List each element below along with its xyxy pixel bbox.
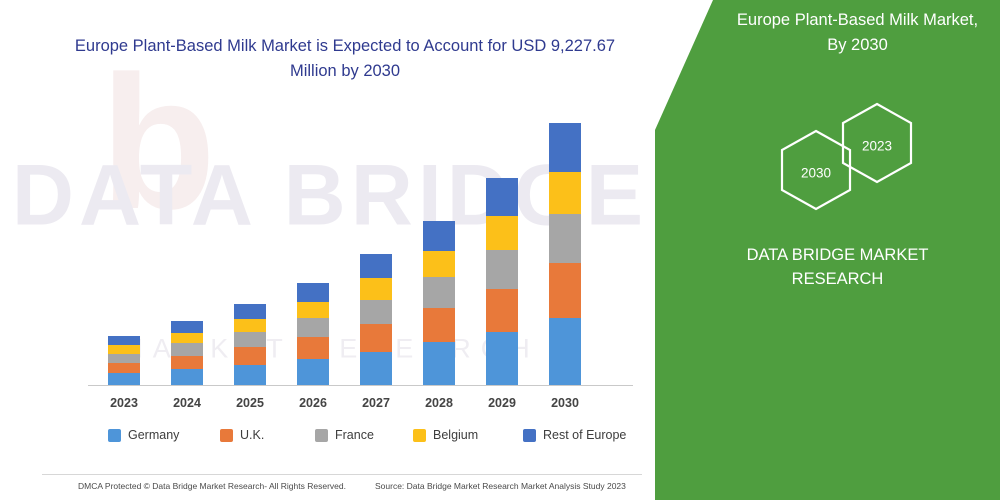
bar-group-2029[interactable] xyxy=(486,178,518,385)
x-axis-label-2025: 2025 xyxy=(220,396,280,410)
hexagon-2023: 2023 xyxy=(839,101,915,190)
legend-label: France xyxy=(335,428,374,442)
bar-segment-france-2028[interactable] xyxy=(423,277,455,307)
footer: DMCA Protected © Data Bridge Market Rese… xyxy=(0,474,680,500)
bar-segment-belgium-2028[interactable] xyxy=(423,251,455,277)
bar-segment-u-k--2023[interactable] xyxy=(108,363,140,373)
bar-segment-germany-2028[interactable] xyxy=(423,342,455,385)
bar-segment-france-2030[interactable] xyxy=(549,214,581,263)
footer-divider xyxy=(42,474,642,475)
bar-segment-u-k--2030[interactable] xyxy=(549,263,581,318)
x-axis-label-2029: 2029 xyxy=(472,396,532,410)
x-axis-label-2024: 2024 xyxy=(157,396,217,410)
chart-panel: b DATA BRIDGE MARKET RESEARCH Europe Pla… xyxy=(0,0,680,500)
bar-segment-france-2024[interactable] xyxy=(171,343,203,355)
legend-label: Rest of Europe xyxy=(543,428,626,442)
footer-copyright: DMCA Protected © Data Bridge Market Rese… xyxy=(78,481,346,491)
legend-item-u-k-[interactable]: U.K. xyxy=(220,428,315,442)
x-axis-label-2027: 2027 xyxy=(346,396,406,410)
bar-group-2028[interactable] xyxy=(423,221,455,385)
bar-segment-u-k--2024[interactable] xyxy=(171,356,203,369)
legend-label: U.K. xyxy=(240,428,264,442)
panel-title: Europe Plant-Based Milk Market, By 2030 xyxy=(730,8,985,58)
legend-item-germany[interactable]: Germany xyxy=(108,428,220,442)
bar-segment-u-k--2027[interactable] xyxy=(360,324,392,351)
legend-label: Germany xyxy=(128,428,179,442)
bar-segment-germany-2029[interactable] xyxy=(486,332,518,385)
bar-segment-belgium-2025[interactable] xyxy=(234,319,266,332)
bar-segment-belgium-2023[interactable] xyxy=(108,345,140,353)
legend-swatch-icon xyxy=(220,429,233,442)
bar-segment-germany-2030[interactable] xyxy=(549,318,581,385)
bar-segment-rest-of-europe-2026[interactable] xyxy=(297,283,329,302)
footer-source: Source: Data Bridge Market Research Mark… xyxy=(375,481,626,491)
bar-segment-france-2025[interactable] xyxy=(234,332,266,347)
bar-segment-germany-2027[interactable] xyxy=(360,352,392,386)
brand-panel: Europe Plant-Based Milk Market, By 2030 … xyxy=(655,0,1000,500)
bar-segment-france-2029[interactable] xyxy=(486,250,518,289)
x-axis-label-2026: 2026 xyxy=(283,396,343,410)
chart-legend: GermanyU.K.FranceBelgiumRest of Europe xyxy=(108,428,628,442)
bar-segment-u-k--2029[interactable] xyxy=(486,289,518,333)
bar-segment-rest-of-europe-2023[interactable] xyxy=(108,336,140,345)
bar-segment-belgium-2029[interactable] xyxy=(486,216,518,250)
bar-segment-u-k--2025[interactable] xyxy=(234,347,266,364)
legend-swatch-icon xyxy=(413,429,426,442)
brand-name-line1: DATA BRIDGE MARKET xyxy=(665,246,1000,265)
bar-segment-u-k--2026[interactable] xyxy=(297,337,329,358)
legend-swatch-icon xyxy=(523,429,536,442)
chart-title: Europe Plant-Based Milk Market is Expect… xyxy=(60,34,630,84)
bar-segment-belgium-2027[interactable] xyxy=(360,278,392,299)
legend-item-belgium[interactable]: Belgium xyxy=(413,428,523,442)
x-axis-label-2028: 2028 xyxy=(409,396,469,410)
bar-segment-rest-of-europe-2029[interactable] xyxy=(486,178,518,217)
bar-group-2027[interactable] xyxy=(360,254,392,385)
bar-segment-germany-2025[interactable] xyxy=(234,365,266,385)
x-axis-line xyxy=(88,385,633,386)
bar-segment-france-2027[interactable] xyxy=(360,300,392,324)
bar-group-2024[interactable] xyxy=(171,321,203,385)
bar-segment-france-2023[interactable] xyxy=(108,354,140,363)
hexagon-2023-label: 2023 xyxy=(839,138,915,153)
bar-segment-rest-of-europe-2025[interactable] xyxy=(234,304,266,319)
bar-group-2026[interactable] xyxy=(297,283,329,386)
stacked-bar-plot: 20232024202520262027202820292030 xyxy=(88,100,633,385)
bar-segment-france-2026[interactable] xyxy=(297,318,329,337)
x-axis-label-2023: 2023 xyxy=(94,396,154,410)
bar-segment-rest-of-europe-2028[interactable] xyxy=(423,221,455,251)
bar-segment-germany-2026[interactable] xyxy=(297,359,329,385)
bar-segment-rest-of-europe-2030[interactable] xyxy=(549,123,581,172)
bar-segment-belgium-2024[interactable] xyxy=(171,333,203,343)
bar-segment-belgium-2026[interactable] xyxy=(297,302,329,318)
brand-name-line2: RESEARCH xyxy=(665,270,1000,289)
bar-group-2030[interactable] xyxy=(549,123,581,385)
bar-segment-germany-2024[interactable] xyxy=(171,369,203,385)
legend-item-france[interactable]: France xyxy=(315,428,413,442)
legend-label: Belgium xyxy=(433,428,478,442)
bar-segment-u-k--2028[interactable] xyxy=(423,308,455,343)
bar-segment-rest-of-europe-2027[interactable] xyxy=(360,254,392,278)
x-axis-label-2030: 2030 xyxy=(535,396,595,410)
legend-swatch-icon xyxy=(315,429,328,442)
legend-item-rest-of-europe[interactable]: Rest of Europe xyxy=(523,428,626,442)
bar-group-2025[interactable] xyxy=(234,304,266,385)
legend-swatch-icon xyxy=(108,429,121,442)
bar-segment-belgium-2030[interactable] xyxy=(549,172,581,215)
bar-segment-rest-of-europe-2024[interactable] xyxy=(171,321,203,333)
bar-segment-germany-2023[interactable] xyxy=(108,373,140,385)
bar-group-2023[interactable] xyxy=(108,336,140,385)
